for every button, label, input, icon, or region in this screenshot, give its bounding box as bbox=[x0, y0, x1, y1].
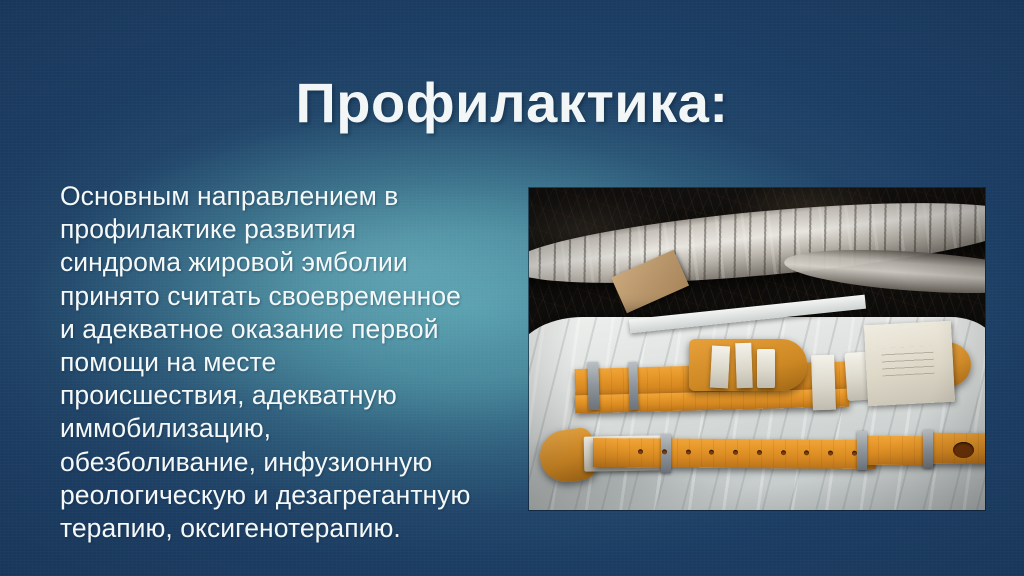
body-line: происшествия, адекватную bbox=[60, 379, 500, 412]
page-title: Профилактика: bbox=[0, 72, 1024, 135]
slide-body-text: Основным направлением в профилактике раз… bbox=[60, 180, 500, 545]
body-line: терапию, оксигенотерапию. bbox=[60, 512, 500, 545]
body-line: обезболивание, инфузионную bbox=[60, 446, 500, 479]
body-line: и адекватное оказание первой bbox=[60, 313, 500, 346]
presentation-slide: Профилактика: Основным направлением в пр… bbox=[0, 0, 1024, 576]
body-line: помощи на месте bbox=[60, 346, 500, 379]
splint-photo bbox=[529, 188, 985, 510]
body-line: иммобилизацию, bbox=[60, 412, 500, 445]
body-line: реологическую и дезагрегантную bbox=[60, 479, 500, 512]
body-line: Основным направлением в bbox=[60, 180, 500, 213]
photo-color-grade bbox=[529, 188, 985, 510]
photo-content bbox=[529, 188, 985, 510]
body-line: синдрома жировой эмболии bbox=[60, 246, 500, 279]
body-line: принято считать своевременное bbox=[60, 280, 500, 313]
body-line: профилактике развития bbox=[60, 213, 500, 246]
